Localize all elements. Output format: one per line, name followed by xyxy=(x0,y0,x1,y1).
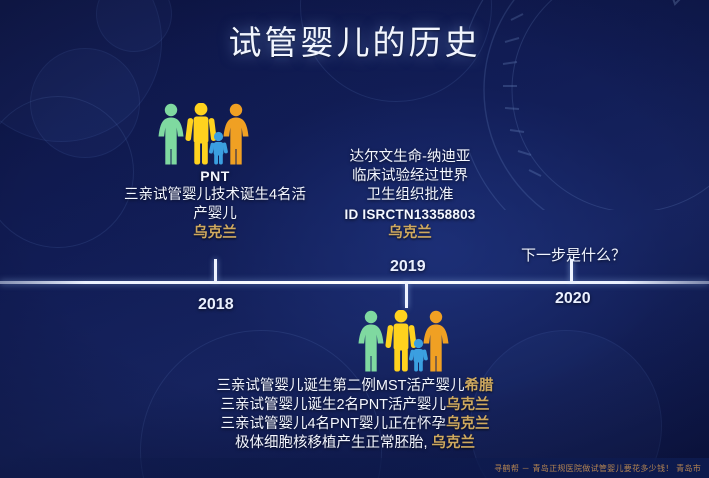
bottom-row: 三亲试管婴儿4名PNT婴儿正在怀孕乌克兰 xyxy=(105,415,605,434)
bottom-row: 三亲试管婴儿诞生2名PNT活产婴儿乌克兰 xyxy=(105,396,605,415)
bottom-row-country: 乌克兰 xyxy=(446,397,490,413)
timeline-tick-2019 xyxy=(405,282,408,308)
event-2018-country: 乌克兰 xyxy=(193,225,237,241)
bottom-row-text: 极体细胞核移植产生正常胚胎, xyxy=(235,435,428,451)
bottom-row-text: 三亲试管婴儿诞生第二例MST活产婴儿 xyxy=(216,378,464,394)
page-title: 试管婴儿的历史 xyxy=(0,16,709,64)
timeline-year-2019: 2019 xyxy=(390,258,426,276)
bottom-row: 极体细胞核移植产生正常胚胎, 乌克兰 xyxy=(105,434,605,453)
timeline-axis xyxy=(0,281,709,284)
timeline-tick-2018 xyxy=(214,259,217,282)
bottom-row-country: 乌克兰 xyxy=(446,416,490,432)
footer-watermark-text: 寻鹤帮 － 青岛正规医院做试管婴儿要花多少钱！ 青岛市 xyxy=(494,463,701,474)
family-group-icon-2018 xyxy=(155,103,255,170)
bottom-row-text: 三亲试管婴儿4名PNT婴儿正在怀孕 xyxy=(220,416,446,432)
timeline-tick-2020 xyxy=(570,259,573,282)
event-block-2019-bottom: 三亲试管婴儿诞生第二例MST活产婴儿希腊 三亲试管婴儿诞生2名PNT活产婴儿乌克… xyxy=(105,377,605,453)
timeline-year-2018: 2018 xyxy=(198,296,234,314)
bottom-row-country: 乌克兰 xyxy=(432,435,476,451)
event-2019-country: 乌克兰 xyxy=(388,225,432,241)
bottom-row: 三亲试管婴儿诞生第二例MST活产婴儿希腊 xyxy=(105,377,605,396)
next-step-question: 下一步是什么？ xyxy=(521,244,626,265)
event-block-2019-top: 达尔文生命-纳迪亚 临床试验经过世界 卫生组织批准 ID ISRCTN13358… xyxy=(310,148,510,243)
family-group-icon-2019 xyxy=(355,310,455,377)
timeline-year-2020: 2020 xyxy=(555,290,591,308)
footer-watermark-bar: 寻鹤帮 － 青岛正规医院做试管婴儿要花多少钱！ 青岛市 xyxy=(0,458,709,478)
event-2019-trial-id: ID ISRCTN13358803 xyxy=(310,205,510,224)
event-2019-line1: 达尔文生命-纳迪亚 xyxy=(310,148,510,167)
bottom-row-text: 三亲试管婴儿诞生2名PNT活产婴儿 xyxy=(220,397,446,413)
event-2019-line2: 临床试验经过世界 xyxy=(310,167,510,186)
event-2019-line3: 卫生组织批准 xyxy=(310,186,510,205)
slide-canvas: 试管婴儿的历史 xyxy=(0,0,709,478)
decor-circle xyxy=(30,48,140,158)
event-2019-country-row: 乌克兰 xyxy=(310,224,510,243)
bottom-row-country: 希腊 xyxy=(465,378,494,394)
